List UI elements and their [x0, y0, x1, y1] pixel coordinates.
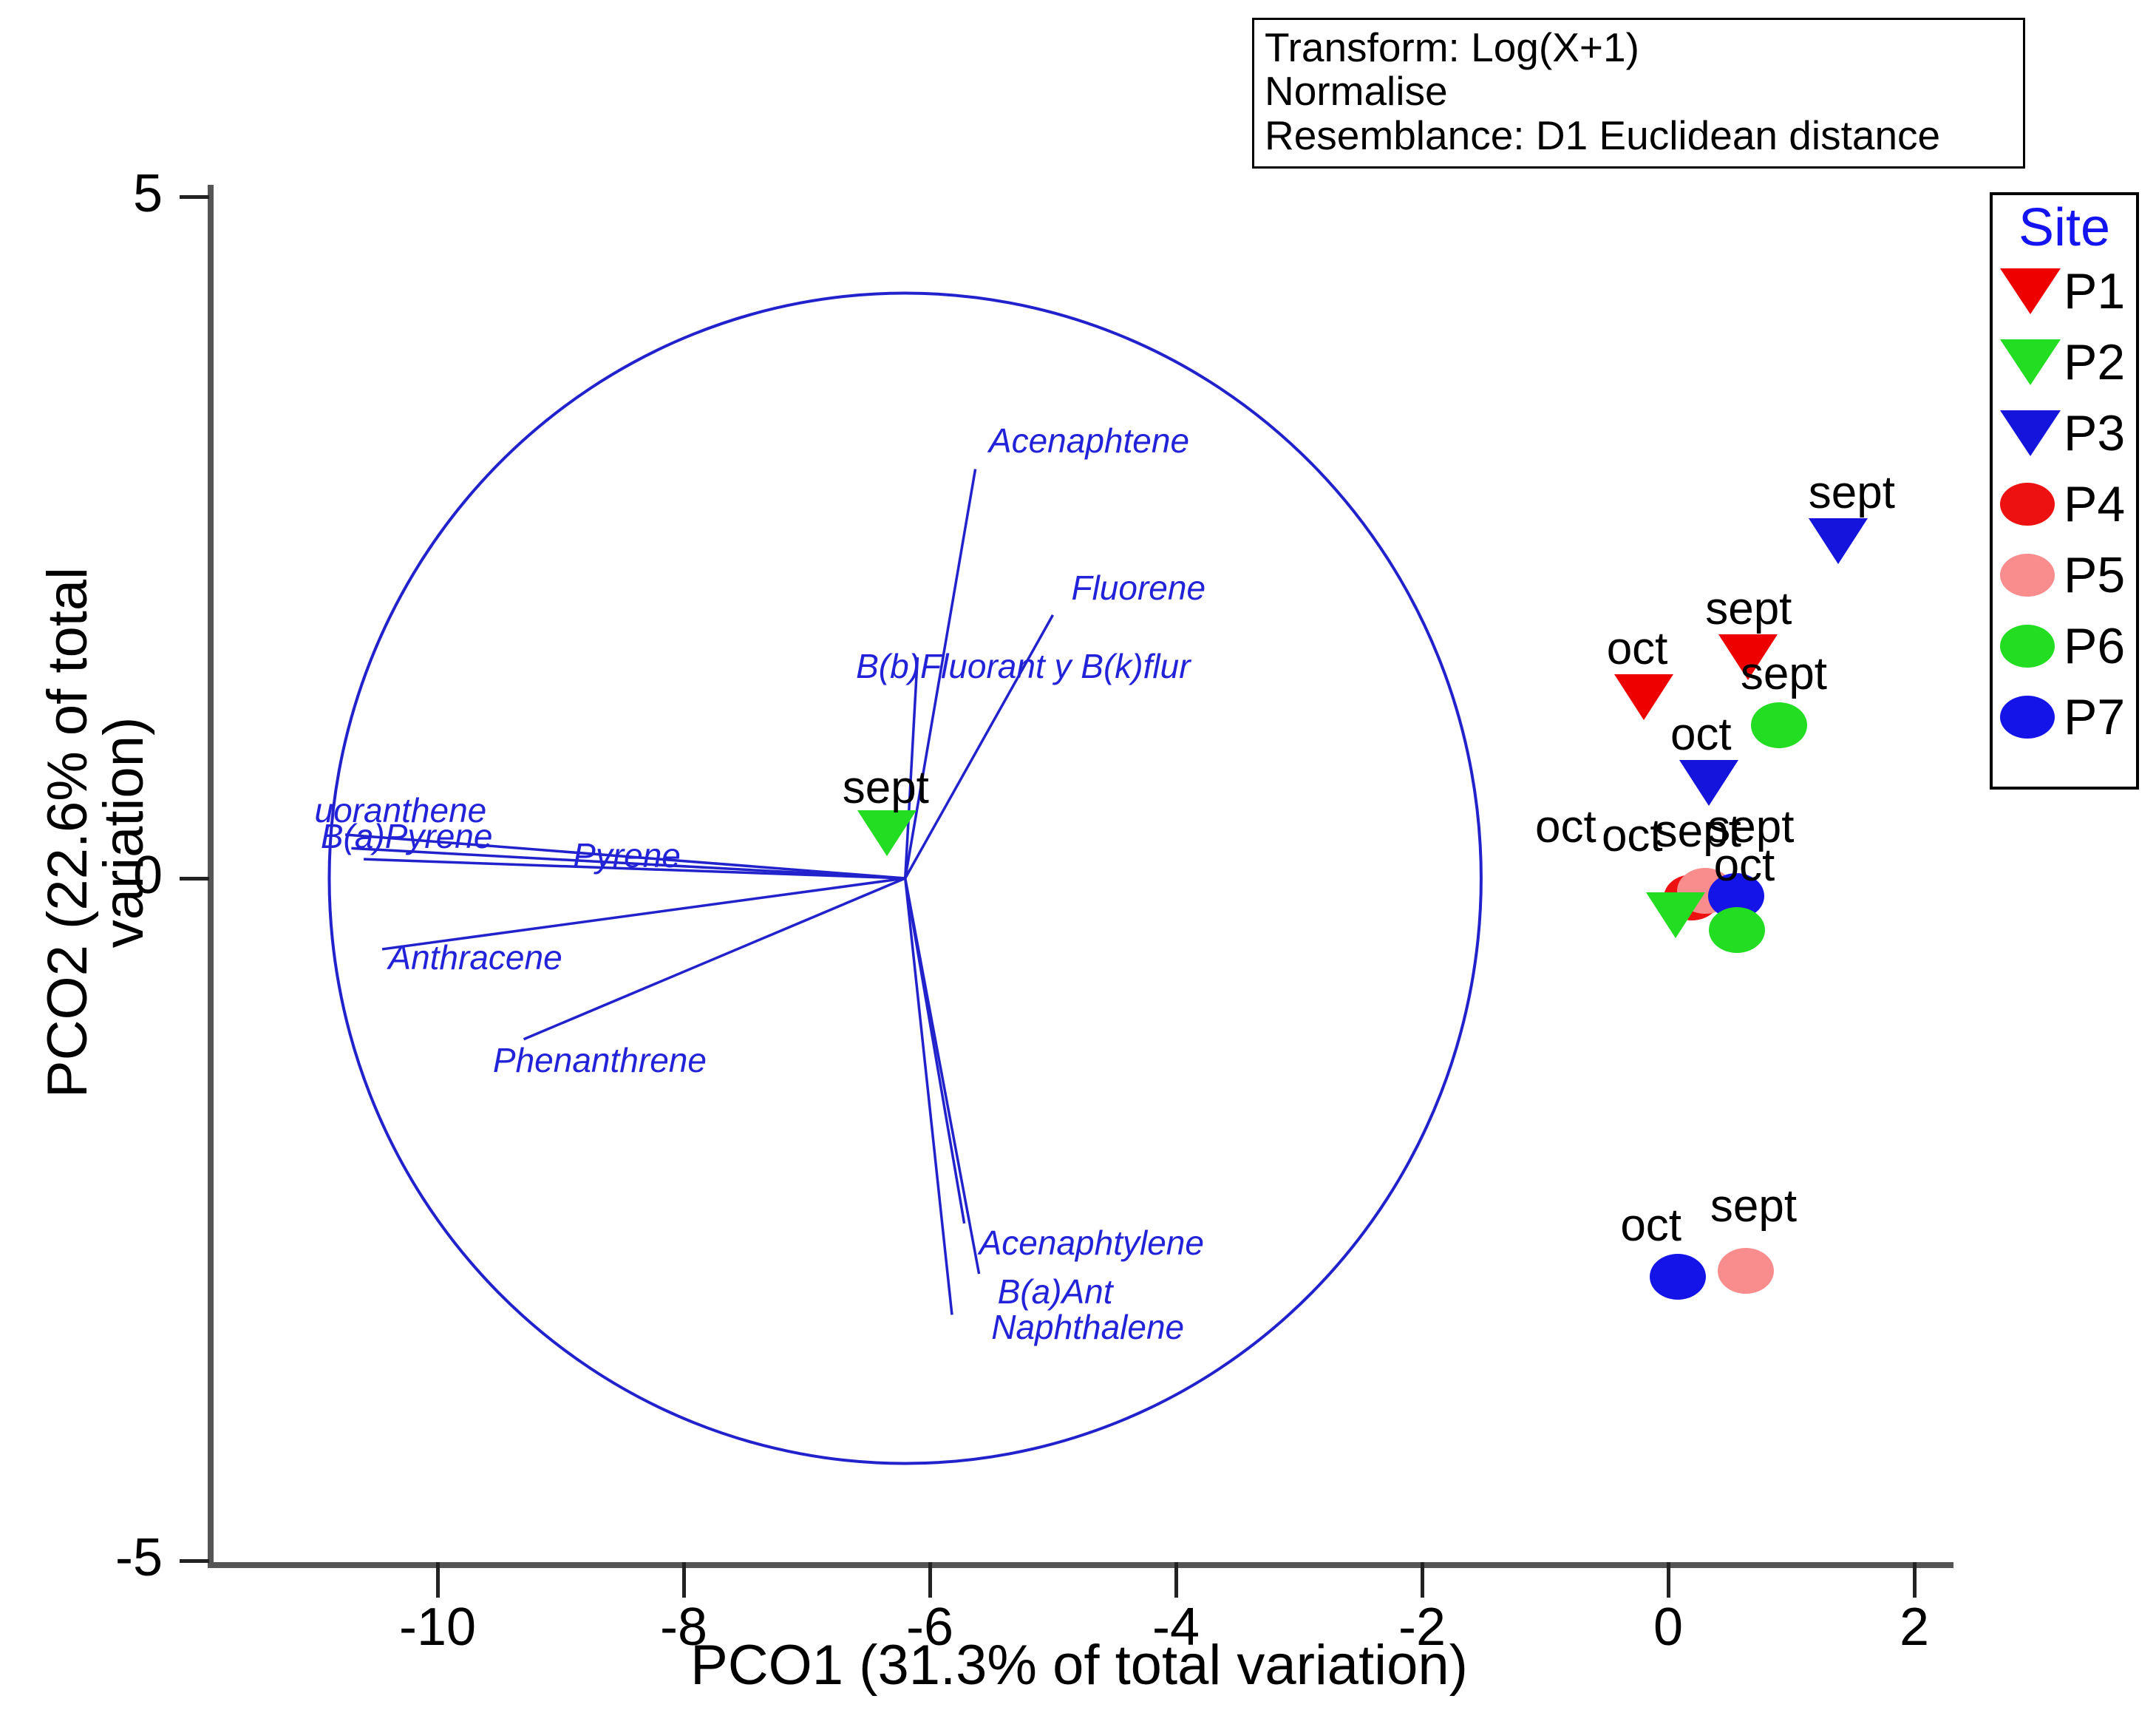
vector-label: Pyrene — [573, 838, 681, 872]
legend-item-p4[interactable]: P4 — [1993, 469, 2136, 540]
vector-label: B(b)Fluorant y B(k)flur — [856, 649, 1190, 683]
data-point-p3-sept[interactable] — [1809, 518, 1868, 564]
data-point-p3-oct[interactable] — [1679, 760, 1738, 806]
vector-label: B(a)Pyrene — [321, 819, 493, 853]
data-point-p2-sept[interactable] — [857, 810, 917, 856]
site-legend: Site P1P2P3P4P5P6P7 — [1990, 192, 2139, 790]
data-point-label: sept — [1741, 651, 1827, 697]
x-tick — [682, 1562, 686, 1598]
pco-plot-canvas: Transform: Log(X+1) Normalise Resemblanc… — [0, 0, 2156, 1727]
x-tick — [436, 1562, 440, 1598]
x-axis-line — [208, 1562, 1953, 1568]
vector-line — [524, 878, 905, 1039]
data-point-p5-sept[interactable] — [1718, 1248, 1774, 1294]
info-normalise-line: Normalise — [1265, 69, 2013, 113]
legend-item-p5[interactable]: P5 — [1993, 540, 2136, 611]
vector-label: Anthracene — [388, 940, 562, 974]
legend-item-p6[interactable]: P6 — [1993, 611, 2136, 682]
legend-item-p3[interactable]: P3 — [1993, 398, 2136, 469]
vector-label: Acenaphtylene — [979, 1226, 1204, 1260]
vector-label: Phenanthrene — [493, 1043, 707, 1077]
legend-item-p7[interactable]: P7 — [1993, 682, 2136, 753]
y-axis-line — [208, 185, 214, 1567]
analysis-info-box: Transform: Log(X+1) Normalise Resemblanc… — [1252, 18, 2025, 169]
unit-circle — [329, 293, 1480, 1463]
vector-label: Fluorene — [1071, 571, 1205, 605]
y-tick — [180, 877, 209, 881]
data-point-label: sept — [843, 765, 929, 811]
data-point-p2-oct[interactable] — [1646, 892, 1705, 938]
data-point-label: oct — [1535, 804, 1596, 850]
data-point-label: sept — [1707, 804, 1794, 850]
vector-line — [905, 878, 965, 1224]
circle-marker-icon — [2000, 691, 2061, 743]
y-tick-label: -5 — [30, 1531, 163, 1584]
legend-item-label: P3 — [2064, 408, 2125, 458]
circle-marker-icon — [2000, 620, 2061, 672]
data-point-label: sept — [1705, 586, 1792, 632]
legend-items: P1P2P3P4P5P6P7 — [1993, 256, 2136, 753]
legend-item-label: P7 — [2064, 692, 2125, 742]
data-point-p7-oct[interactable] — [1650, 1254, 1706, 1300]
legend-item-label: P2 — [2064, 337, 2125, 387]
legend-item-label: P4 — [2064, 479, 2125, 529]
circle-marker-icon — [2000, 549, 2061, 601]
vector-label: B(a)Ant — [998, 1275, 1113, 1309]
vector-overlay — [0, 0, 2156, 1727]
circle-marker-icon — [2000, 478, 2061, 530]
x-tick — [1174, 1562, 1178, 1598]
vector-line — [905, 878, 952, 1314]
y-tick — [180, 195, 209, 199]
legend-item-label: P5 — [2064, 550, 2125, 600]
data-point-label: sept — [1710, 1184, 1797, 1229]
data-point-label: oct — [1670, 712, 1732, 758]
legend-item-p2[interactable]: P2 — [1993, 327, 2136, 398]
x-axis-label: PCO1 (31.3% of total variation) — [414, 1638, 1744, 1694]
info-transform-line: Transform: Log(X+1) — [1265, 26, 2013, 69]
data-point-label: oct — [1602, 813, 1663, 859]
x-tick — [1667, 1562, 1670, 1598]
data-point-label: oct — [1620, 1203, 1681, 1249]
legend-title: Site — [1993, 201, 2136, 254]
legend-item-p1[interactable]: P1 — [1993, 256, 2136, 327]
info-resemblance-line: Resemblance: D1 Euclidean distance — [1265, 114, 2013, 157]
x-tick — [1913, 1562, 1917, 1598]
x-tick-label: 2 — [1848, 1601, 1981, 1654]
x-tick — [1421, 1562, 1424, 1598]
triangle-down-marker-icon — [2000, 265, 2061, 317]
y-axis-label: PCO2 (22.6% of total variation) — [40, 463, 152, 1202]
vector-lines — [345, 469, 1053, 1315]
x-tick — [928, 1562, 932, 1598]
y-tick-label: 5 — [30, 167, 163, 220]
data-point-p6-oct[interactable] — [1709, 907, 1765, 953]
vector-label: Acenaphtene — [989, 424, 1189, 458]
data-point-p6-sept[interactable] — [1751, 702, 1807, 748]
y-tick — [180, 1559, 209, 1563]
data-point-label: sept — [1809, 470, 1895, 516]
data-point-p1-oct[interactable] — [1614, 674, 1673, 720]
vector-line — [905, 878, 979, 1274]
triangle-down-marker-icon — [2000, 336, 2061, 388]
legend-item-label: P1 — [2064, 266, 2125, 316]
legend-item-label: P6 — [2064, 621, 2125, 671]
vector-label: Naphthalene — [991, 1310, 1184, 1344]
triangle-down-marker-icon — [2000, 407, 2061, 459]
data-point-label: oct — [1607, 626, 1668, 672]
